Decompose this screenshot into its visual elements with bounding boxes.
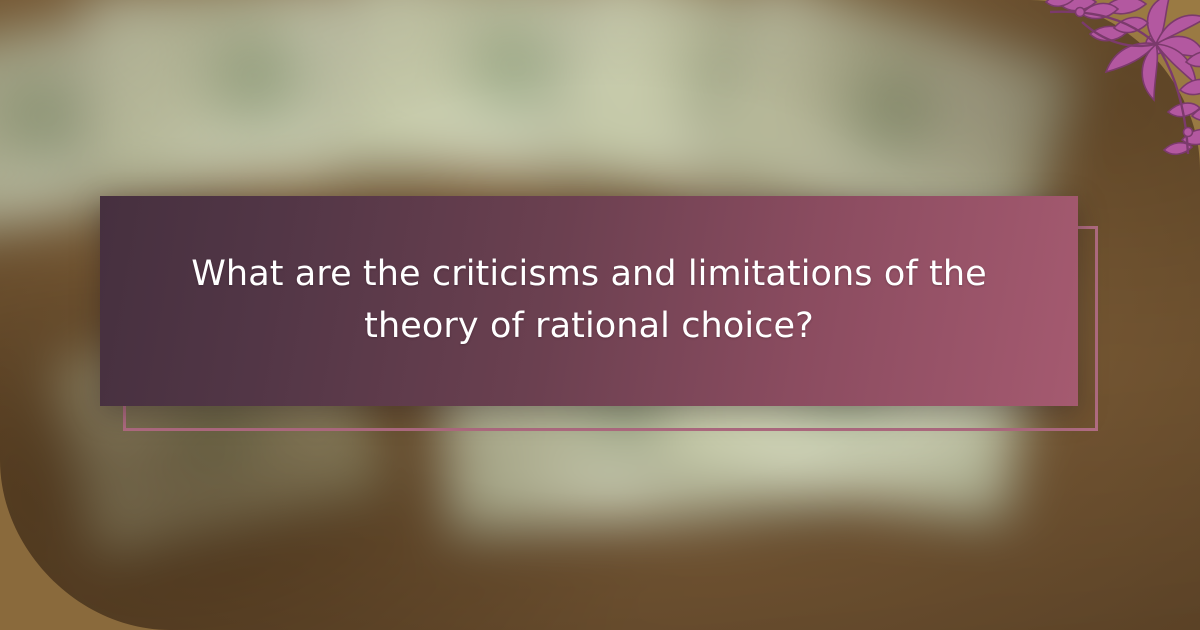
page-root: What are the criticisms and limitations … [0, 0, 1200, 630]
question-card: What are the criticisms and limitations … [100, 196, 1078, 406]
question-text: What are the criticisms and limitations … [144, 249, 1034, 353]
